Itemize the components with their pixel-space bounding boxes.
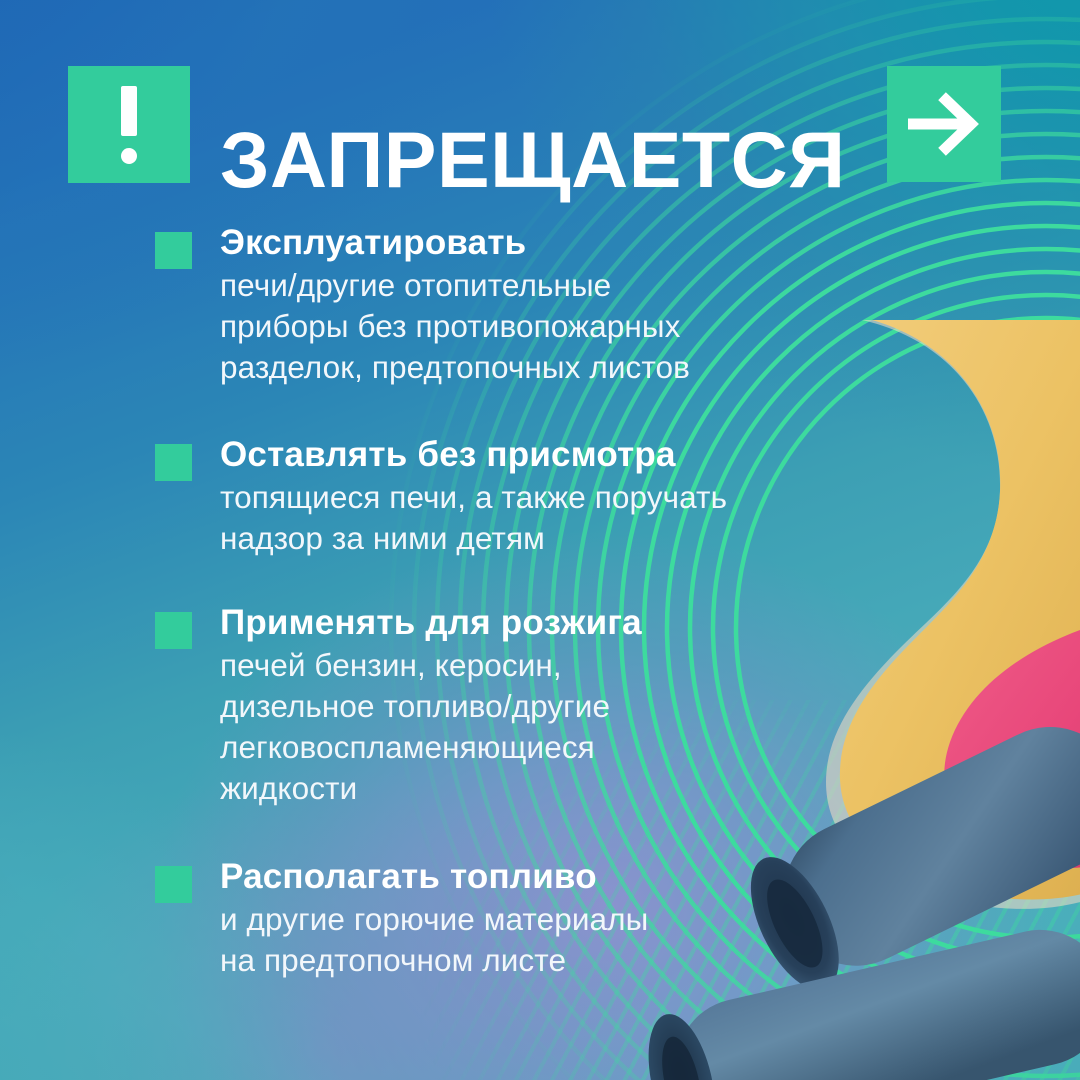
list-item-heading: Оставлять без присмотра bbox=[220, 434, 860, 475]
warning-badge bbox=[68, 66, 190, 183]
arrow-right-icon bbox=[908, 92, 980, 156]
list-item-heading: Эксплуатировать bbox=[220, 222, 860, 263]
list-item-body: печей бензин, керосин, дизельное топливо… bbox=[220, 645, 860, 809]
list-item-heading: Применять для розжига bbox=[220, 602, 860, 643]
square-bullet-icon bbox=[155, 232, 192, 269]
square-bullet-icon bbox=[155, 444, 192, 481]
next-arrow-button[interactable] bbox=[887, 66, 1001, 182]
square-bullet-icon bbox=[155, 612, 192, 649]
list-item-body: топящиеся печи, а также поручать надзор … bbox=[220, 477, 860, 559]
list-item-body: печи/другие отопительные приборы без про… bbox=[220, 265, 860, 388]
poster-canvas: ЗАПРЕЩАЕТСЯ Эксплуатировать печи/другие … bbox=[0, 0, 1080, 1080]
exclamation-mark-icon bbox=[121, 86, 137, 164]
square-bullet-icon bbox=[155, 866, 192, 903]
page-title: ЗАПРЕЩАЕТСЯ bbox=[220, 115, 846, 206]
list-item-body: и другие горючие материалы на предтопочн… bbox=[220, 899, 860, 981]
list-item-heading: Располагать топливо bbox=[220, 856, 860, 897]
poster-header: ЗАПРЕЩАЕТСЯ bbox=[0, 0, 1080, 250]
